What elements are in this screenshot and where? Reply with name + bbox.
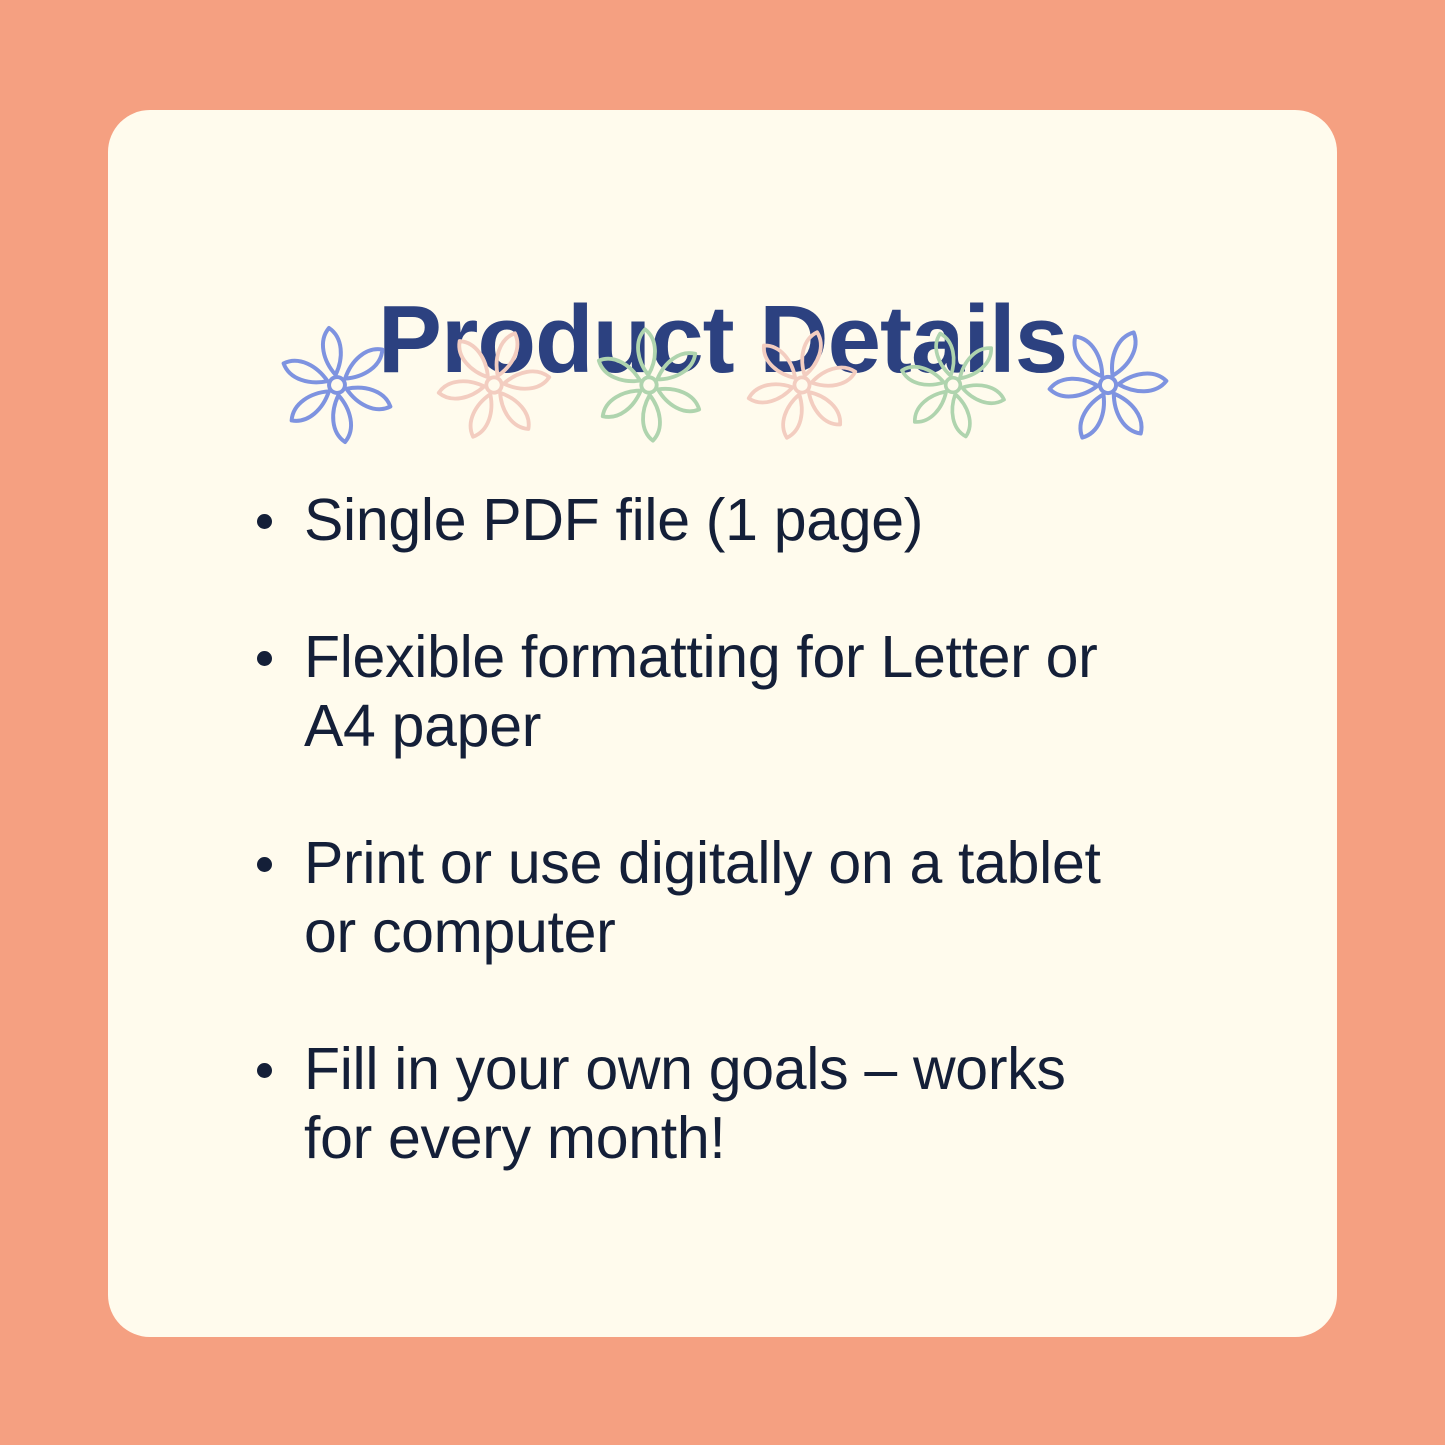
list-item: Single PDF file (1 page) (244, 486, 1304, 555)
flower-icon (432, 323, 556, 447)
flower-icon (741, 324, 863, 446)
bullet-dot-icon (257, 1063, 272, 1078)
list-item-label: Flexible formatting for Letter or A4 pap… (304, 623, 1304, 761)
flower-icon (1043, 320, 1173, 450)
bullet-dot-icon (257, 857, 272, 872)
list-item: Fill in your own goals – works for every… (244, 1035, 1304, 1173)
details-card: Product Details Single PDF file (1 page)… (108, 110, 1337, 1337)
flower-icon (894, 326, 1012, 444)
flower-icon (273, 321, 401, 449)
details-bullet-list: Single PDF file (1 page)Flexible formatt… (244, 486, 1304, 1173)
list-item: Flexible formatting for Letter or A4 pap… (244, 623, 1304, 761)
flower-icon (587, 323, 711, 447)
product-details-graphic: Product Details Single PDF file (1 page)… (0, 0, 1445, 1445)
list-item-label: Single PDF file (1 page) (304, 486, 1304, 555)
flower-divider (273, 302, 1173, 467)
bullet-dot-icon (257, 651, 272, 666)
list-item-label: Fill in your own goals – works for every… (304, 1035, 1304, 1173)
list-item: Print or use digitally on a tablet or co… (244, 829, 1304, 967)
list-item-label: Print or use digitally on a tablet or co… (304, 829, 1304, 967)
bullet-dot-icon (257, 514, 272, 529)
